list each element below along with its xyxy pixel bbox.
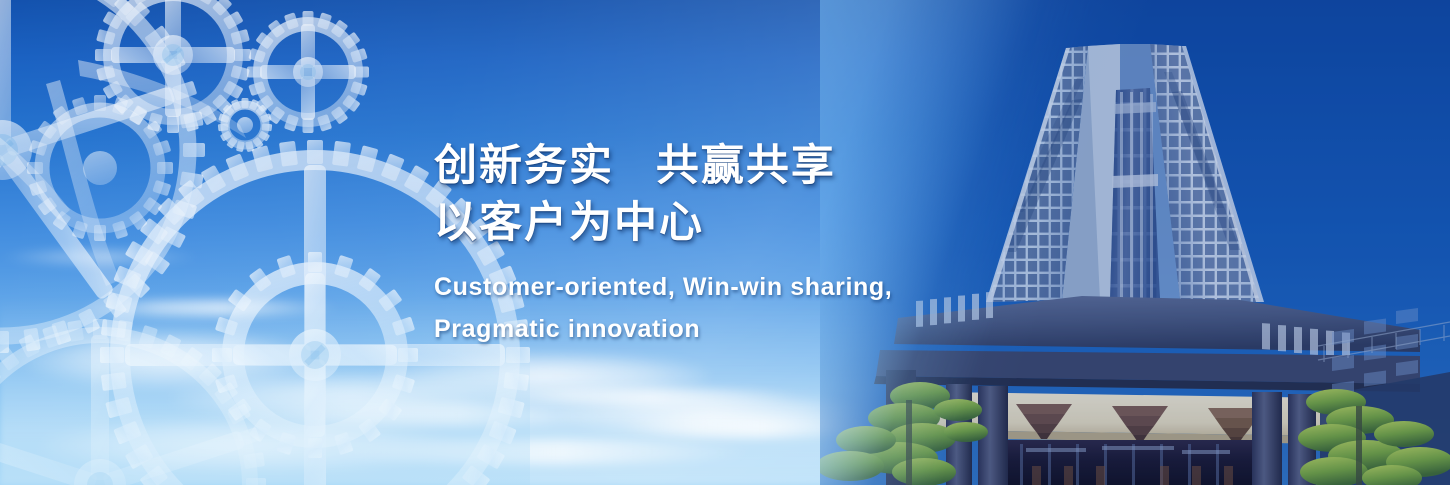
subtitle-line-1: Customer-oriented, Win-win sharing, <box>434 266 1074 308</box>
headline-line-2: 以客户为中心 <box>434 195 1074 252</box>
subtitle-line-2: Pragmatic innovation <box>434 308 1074 350</box>
slogan-text-block: 创新务实 共赢共享 以客户为中心 Customer-oriented, Win-… <box>434 138 1074 350</box>
headline-line-1: 创新务实 共赢共享 <box>434 138 1074 195</box>
hero-banner: 创新务实 共赢共享 以客户为中心 Customer-oriented, Win-… <box>0 0 1450 485</box>
